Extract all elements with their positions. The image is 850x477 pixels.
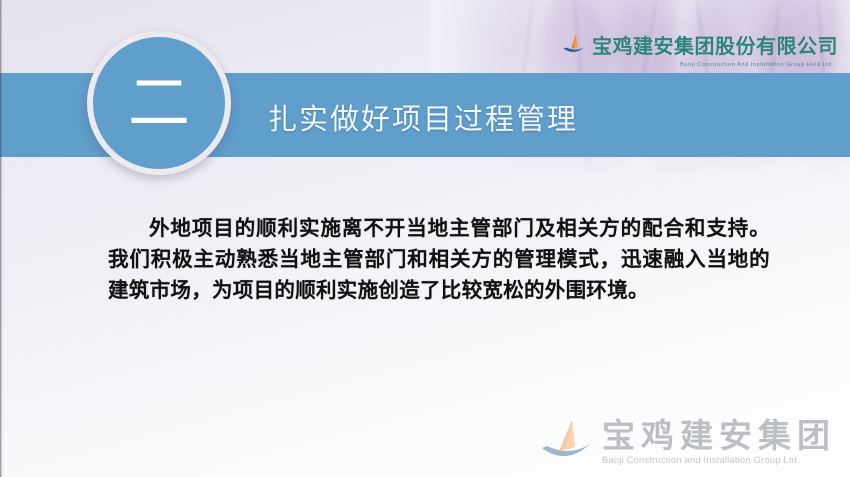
- footer-company-name-cn: 宝鸡建安集团: [602, 419, 836, 454]
- footer-company-name-en: Baoji Construction and Installation Grou…: [602, 454, 800, 465]
- header-company-logo: 宝鸡建安集团股份有限公司 Baoji Construction And Inst…: [561, 30, 838, 68]
- section-number-label: 二: [128, 72, 190, 134]
- section-number-badge: 二: [87, 31, 231, 175]
- header-company-name-en: Baoji Construction And Installation Grou…: [680, 62, 834, 68]
- header-logo-row: 宝鸡建安集团股份有限公司: [561, 30, 838, 59]
- header-company-name-cn: 宝鸡建安集团股份有限公司: [592, 30, 838, 59]
- sail-flame-logo-icon: [561, 32, 587, 58]
- presentation-slide: 二 扎实做好项目过程管理 外地项目的顺利实施离不开当地主管部门及相关方的配合和支…: [0, 0, 850, 477]
- sail-flame-logo-icon: [539, 417, 593, 467]
- footer-logo-text: 宝鸡建安集团 Baoji Construction and Installati…: [602, 419, 836, 466]
- slide-title: 扎实做好项目过程管理: [268, 96, 578, 138]
- slide-body-paragraph: 外地项目的顺利实施离不开当地主管部门及相关方的配合和支持。我们积极主动熟悉当地主…: [108, 213, 770, 306]
- footer-company-watermark: 宝鸡建安集团 Baoji Construction and Installati…: [539, 417, 836, 467]
- left-border-edge: [0, 0, 3, 477]
